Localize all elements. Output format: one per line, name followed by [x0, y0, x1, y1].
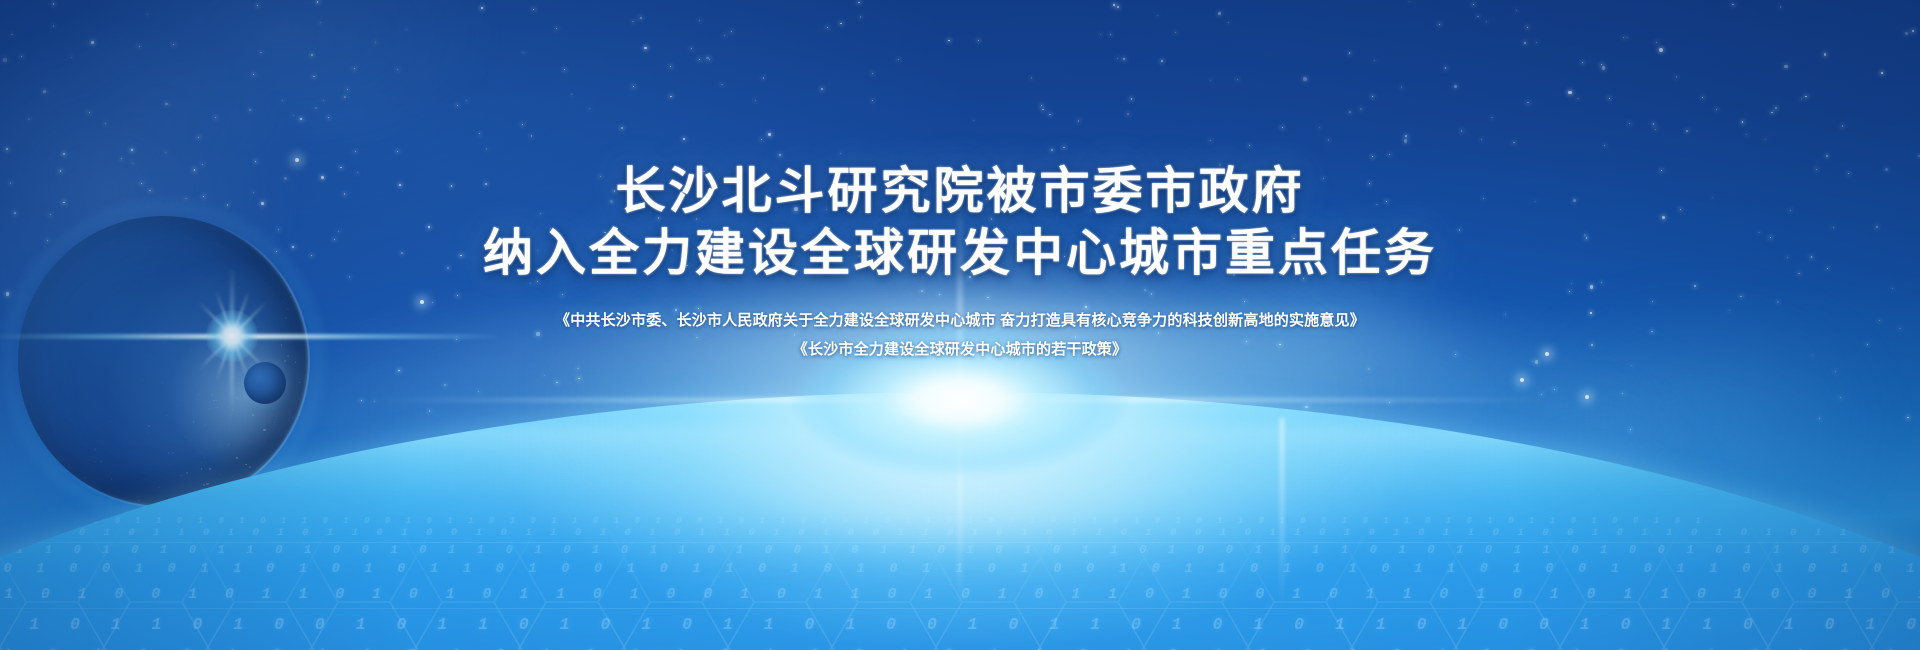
banner-title-line-2: 纳入全力建设全球研发中心城市重点任务	[0, 222, 1920, 284]
globe-rim-light	[0, 392, 1920, 402]
globe-sheen	[0, 426, 1920, 496]
banner-subtitle-line-2: 《长沙市全力建设全球研发中心城市的若干政策》	[0, 335, 1920, 364]
tech-globe-horizon-graphic: 1 0 1 0 1 1 0 1 0 1 0 0 1 0 1 1 0 1 0 1 …	[0, 392, 1920, 650]
banner-hero: 1 0 1 0 1 1 0 1 0 1 0 0 1 0 1 1 0 1 0 1 …	[0, 0, 1920, 650]
banner-subtitle-group: 《中共长沙市委、长沙市人民政府关于全力建设全球研发中心城市 奋力打造具有核心竞争…	[0, 306, 1920, 364]
banner-subtitle-line-1: 《中共长沙市委、长沙市人民政府关于全力建设全球研发中心城市 奋力打造具有核心竞争…	[0, 306, 1920, 335]
banner-text-block: 长沙北斗研究院被市委市政府 纳入全力建设全球研发中心城市重点任务 《中共长沙市委…	[0, 160, 1920, 364]
light-pillar-graphic	[1280, 418, 1284, 608]
binary-code-texture: 1 0 1 0 1 1 0 1 0 1 0 0 1 0 1 1 0 1 0 1 …	[0, 510, 1920, 650]
globe-latitude-line	[0, 608, 1920, 609]
banner-title-line-1: 长沙北斗研究院被市委市政府	[0, 160, 1920, 222]
globe-latitude-line	[0, 542, 1920, 543]
